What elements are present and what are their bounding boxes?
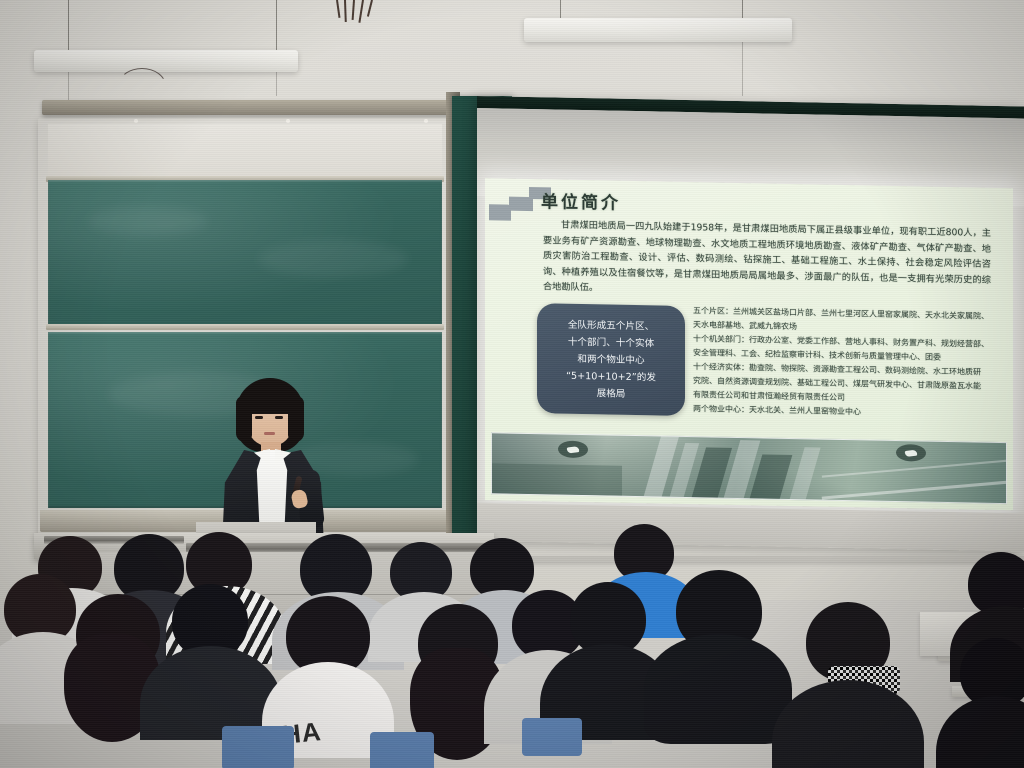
projected-slide: 单位简介 甘肃煤田地质局一四九队始建于1958年，是甘肃煤田地质局下属正县级事业…: [485, 178, 1013, 510]
slide-title: 单位简介: [541, 187, 621, 214]
callout-line: 全队形成五个片区、: [568, 316, 654, 335]
photo-badge-left: [558, 441, 588, 459]
presenter-hair-right: [288, 396, 304, 442]
projection-screen: 单位简介 甘肃煤田地质局一四九队始建于1958年，是甘肃煤田地质局下属正县级事业…: [477, 96, 1024, 552]
chair-back: [222, 726, 294, 768]
blackboard-light-bar: [42, 100, 452, 115]
blackboard-top-panel: [48, 124, 442, 180]
callout-line: “5+10+10+2”的发: [566, 367, 656, 386]
callout-line: 展格局: [597, 385, 626, 403]
shoulders: [772, 680, 924, 768]
audience: HA: [0, 518, 1024, 768]
slide-callout-box: 全队形成五个片区、 十个部门、十个实体 和两个物业中心 “5+10+10+2”的…: [537, 303, 685, 416]
classroom-scene: 单位简介 甘肃煤田地质局一四九队始建于1958年，是甘肃煤田地质局下属正县级事业…: [0, 0, 1024, 768]
slide-detail-column: 五个片区：兰州城关区盐场口片部、兰州七里河区人里窑家属院、天水北关家属院、 天水…: [693, 304, 1005, 422]
shoulders: [936, 696, 1024, 768]
presenter-eye-left: [255, 416, 263, 419]
lamp-rod: [742, 0, 743, 20]
lamp-rod: [68, 0, 69, 52]
slide-photo-strip: [491, 432, 1007, 504]
photo-badge-right: [896, 444, 926, 462]
ceiling-lamp: [34, 50, 298, 72]
callout-line: 十个部门、十个实体: [568, 333, 654, 352]
chair-back: [370, 732, 434, 768]
badge-icon: [905, 449, 918, 456]
hooded-shoulders: [644, 634, 792, 744]
blackboard-rail: [46, 324, 444, 330]
presenter-eye-right: [275, 416, 283, 419]
lamp-rod: [276, 0, 277, 52]
chair-back: [522, 718, 582, 756]
callout-line: 和两个物业中心: [577, 350, 644, 368]
badge-icon: [567, 446, 580, 453]
slide-body-text: 甘肃煤田地质局一四九队始建于1958年，是甘肃煤田地质局下属正县级事业单位，现有…: [543, 217, 991, 303]
lamp-rod: [560, 0, 561, 20]
presenter-hair-left: [236, 396, 252, 442]
presenter-mouth: [264, 432, 275, 435]
blackboard-panel-upper: [48, 180, 442, 328]
ceiling-lamp: [524, 18, 792, 42]
